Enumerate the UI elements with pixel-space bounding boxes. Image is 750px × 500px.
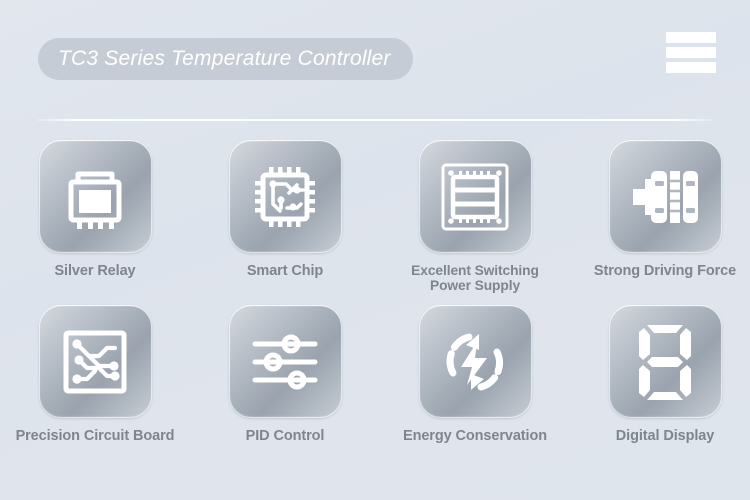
relay-chip-icon (58, 160, 132, 234)
header-divider (36, 119, 715, 121)
feature-grid: Silver Relay (0, 140, 750, 470)
page-title: TC3 Series Temperature Controller (58, 47, 391, 71)
feature-item-digital-display[interactable]: Digital Display (570, 305, 750, 470)
feature-item-silver-relay[interactable]: Silver Relay (0, 140, 190, 305)
feature-label-line1: Excellent Switching (380, 264, 570, 279)
recycle-bolt-icon (436, 323, 514, 401)
transformer-icon (436, 158, 514, 236)
title-pill: TC3 Series Temperature Controller (38, 38, 413, 80)
feature-label: PID Control (190, 429, 380, 445)
menu-bar-3 (666, 62, 716, 73)
feature-item-circuit-board[interactable]: Precision Circuit Board (0, 305, 190, 470)
feature-label-line2: Power Supply (380, 279, 570, 294)
feature-tile (609, 305, 722, 418)
feature-label: Smart Chip (190, 264, 380, 280)
feature-tile (229, 305, 342, 418)
feature-item-pid-control[interactable]: PID Control (190, 305, 380, 470)
feature-item-power-supply[interactable]: Excellent Switching Power Supply (380, 140, 570, 305)
feature-tile (39, 305, 152, 418)
feature-tile (229, 140, 342, 253)
feature-label: Energy Conservation (380, 429, 570, 445)
feature-label: Precision Circuit Board (0, 429, 190, 445)
menu-bar-1 (666, 32, 716, 43)
feature-tile (419, 140, 532, 253)
feature-tile (609, 140, 722, 253)
feature-label: Digital Display (570, 429, 750, 445)
circuit-board-icon (57, 324, 133, 400)
feature-label: Silver Relay (0, 264, 190, 280)
feature-label: Strong Driving Force (570, 264, 750, 280)
feature-item-smart-chip[interactable]: Smart Chip (190, 140, 380, 305)
feature-label: Excellent Switching Power Supply (380, 264, 570, 294)
hamburger-menu-icon[interactable] (666, 32, 716, 73)
feature-item-energy-conservation[interactable]: Energy Conservation (380, 305, 570, 470)
terminal-block-icon (627, 159, 703, 235)
feature-tile (419, 305, 532, 418)
menu-bar-2 (666, 47, 716, 58)
feature-tile (39, 140, 152, 253)
seven-segment-8-icon (634, 321, 696, 403)
feature-item-driving-force[interactable]: Strong Driving Force (570, 140, 750, 305)
sliders-icon (247, 324, 323, 400)
page-header: TC3 Series Temperature Controller (0, 0, 750, 120)
microchip-cpu-icon (248, 160, 322, 234)
